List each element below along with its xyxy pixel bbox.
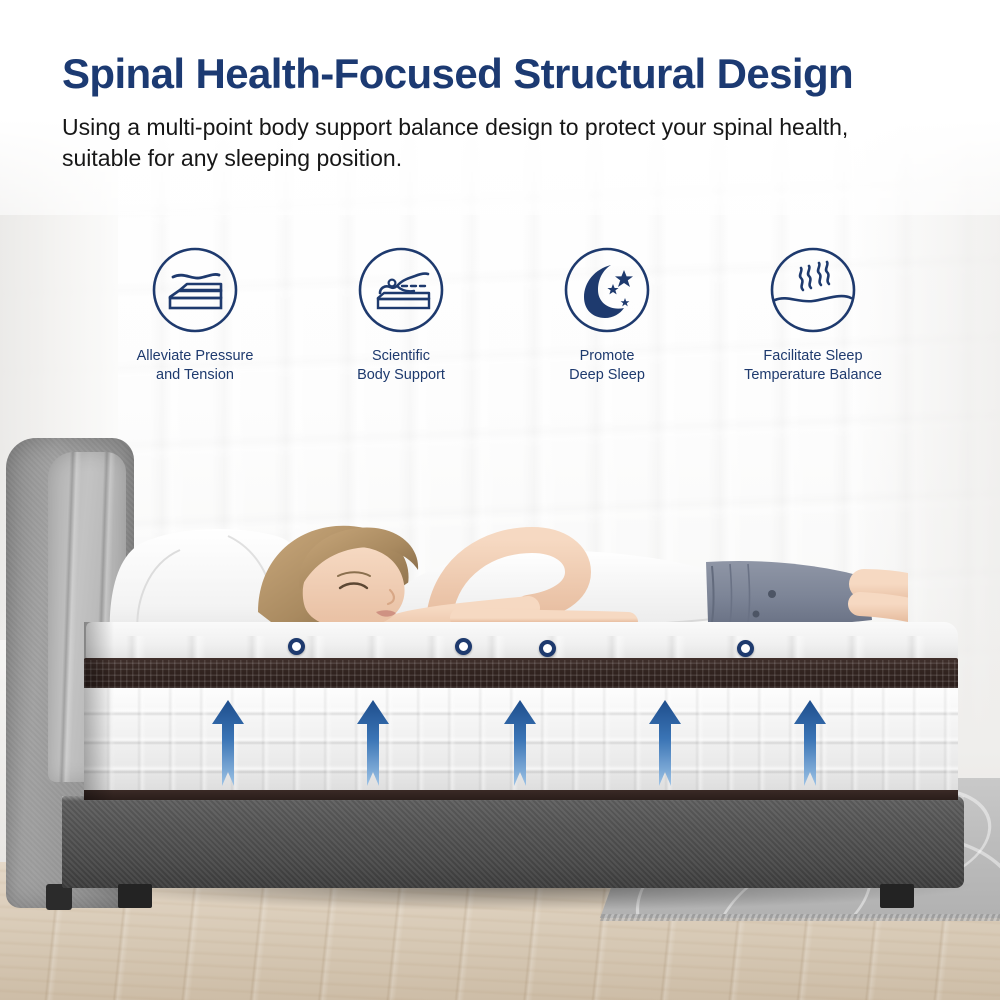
sleeping-woman-illustration bbox=[108, 492, 908, 642]
support-arrow bbox=[648, 700, 682, 786]
support-point-marker bbox=[737, 640, 754, 657]
rug-fringe-edge bbox=[600, 914, 1000, 921]
product-infographic: Spinal Health-Focused Structural Design … bbox=[0, 0, 1000, 1000]
mesh-perforation-texture bbox=[84, 660, 958, 688]
feature-item-alleviate-pressure: Alleviate Pressure and Tension bbox=[100, 246, 290, 386]
support-arrow bbox=[211, 700, 245, 786]
header-background-wash bbox=[0, 0, 1000, 215]
feature-list: Alleviate Pressure and Tension Scientifi… bbox=[100, 246, 908, 398]
feature-item-temperature-balance: Facilitate Sleep Temperature Balance bbox=[718, 246, 908, 386]
crescent-moon-stars-icon bbox=[563, 246, 651, 334]
mattress-pressure-relief-icon bbox=[151, 246, 239, 334]
support-point-marker bbox=[455, 638, 472, 655]
feature-item-body-support: Scientific Body Support bbox=[306, 246, 496, 386]
page-title: Spinal Health-Focused Structural Design bbox=[62, 52, 952, 96]
feature-label: Scientific Body Support bbox=[357, 347, 445, 386]
bed-leg bbox=[118, 884, 152, 908]
pants-button bbox=[753, 611, 760, 618]
pants-button bbox=[768, 590, 776, 598]
feature-label: Promote Deep Sleep bbox=[569, 347, 645, 386]
bed-leg bbox=[880, 884, 914, 908]
feature-label: Facilitate Sleep Temperature Balance bbox=[744, 347, 882, 386]
support-arrow bbox=[356, 700, 390, 786]
support-point-marker bbox=[539, 640, 556, 657]
support-arrow bbox=[503, 700, 537, 786]
bed-base-fabric-texture bbox=[62, 796, 964, 888]
body-support-posture-icon bbox=[357, 246, 445, 334]
mattress-left-shading bbox=[84, 622, 114, 800]
page-subtitle: Using a multi-point body support balance… bbox=[62, 112, 892, 173]
support-point-marker bbox=[288, 638, 305, 655]
feature-item-deep-sleep: Promote Deep Sleep bbox=[512, 246, 702, 386]
mattress-bottom-trim bbox=[84, 790, 958, 800]
heat-airflow-waves-icon bbox=[769, 246, 857, 334]
feature-label: Alleviate Pressure and Tension bbox=[137, 347, 254, 386]
support-arrow bbox=[793, 700, 827, 786]
